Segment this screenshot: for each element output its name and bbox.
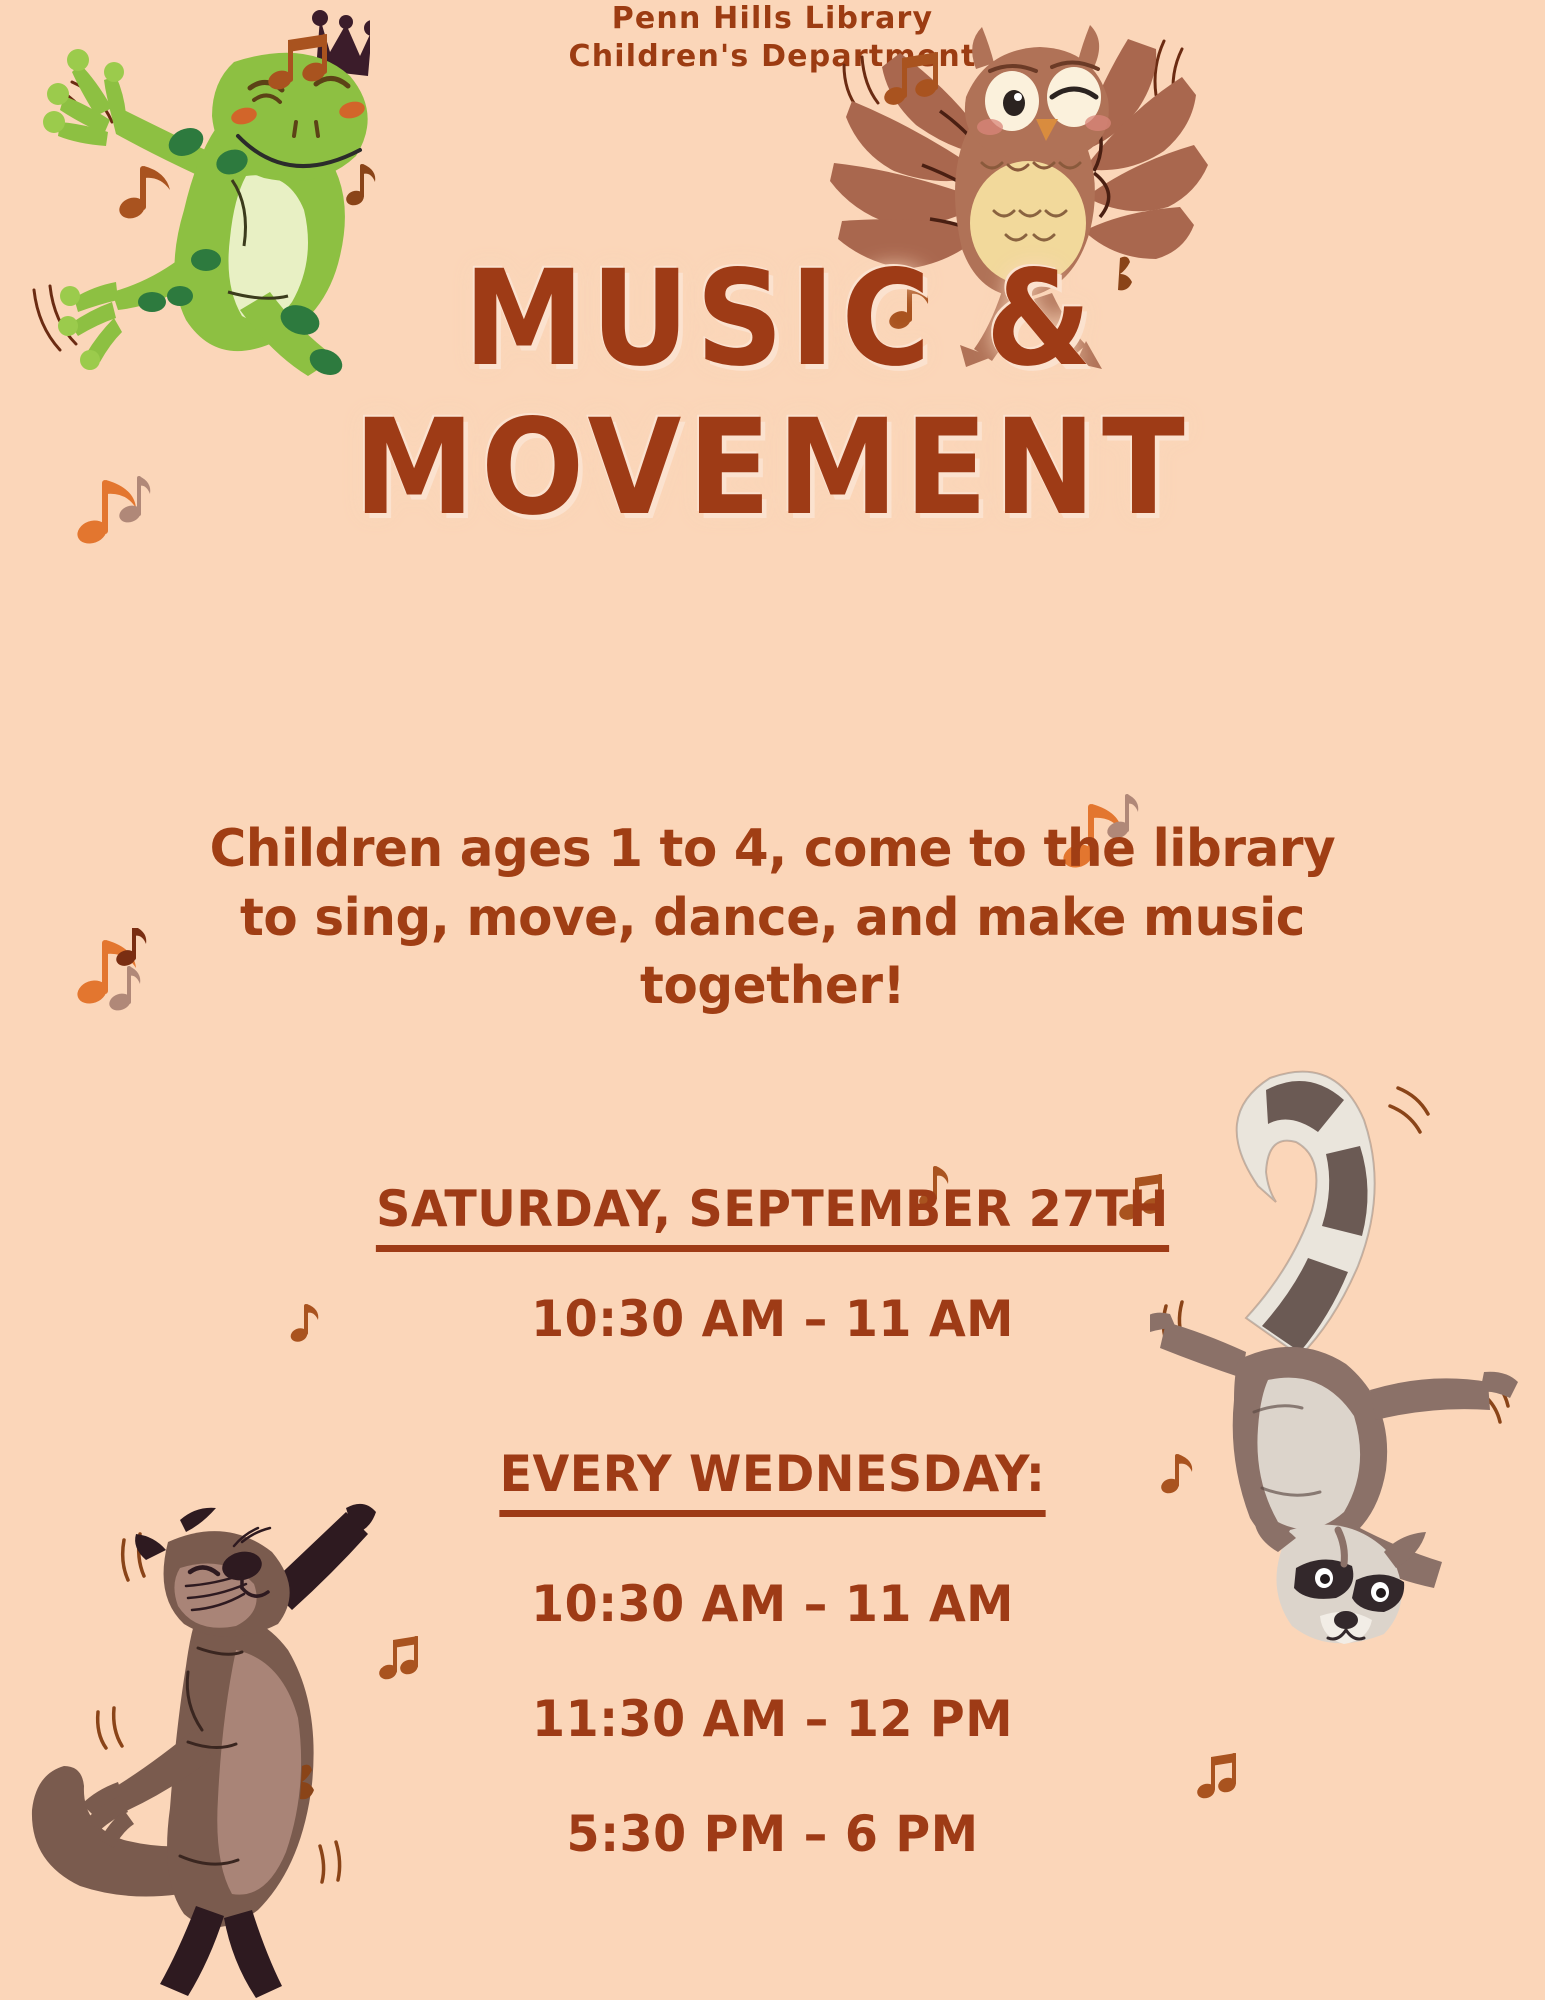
- music-note-icon: [292, 1760, 322, 1806]
- music-note-icon: [76, 470, 152, 560]
- page-title: MUSIC & MOVEMENT: [0, 255, 1545, 534]
- saturday-heading-text: SATURDAY, SEPTEMBER 27TH: [376, 1180, 1169, 1252]
- music-note-icon: [345, 160, 379, 212]
- music-note-icon: [888, 276, 932, 336]
- music-note-icon: [118, 160, 176, 228]
- organization-header: Penn Hills Library Children's Department: [0, 0, 1545, 77]
- title-line-1: MUSIC &: [62, 255, 1483, 384]
- music-note-icon: [1196, 1752, 1238, 1806]
- music-note-icon: [1110, 252, 1140, 296]
- organization-line-1: Penn Hills Library: [0, 0, 1545, 38]
- weekly-time-0: 10:30 AM – 11 AM: [39, 1575, 1507, 1633]
- event-description: Children ages 1 to 4, come to the librar…: [175, 815, 1370, 1021]
- title-line-2: MOVEMENT: [62, 404, 1483, 533]
- music-note-icon: [378, 1634, 420, 1686]
- weekly-heading: EVERY WEDNESDAY:: [39, 1445, 1507, 1503]
- saturday-time-0: 10:30 AM – 11 AM: [39, 1290, 1507, 1348]
- dancing-raccoon-illustration: [1150, 1060, 1545, 1660]
- organization-line-2: Children's Department: [0, 38, 1545, 76]
- poster-root: Penn Hills Library Children's Department…: [0, 0, 1545, 2000]
- music-note-icon: [76, 928, 156, 1024]
- saturday-heading: SATURDAY, SEPTEMBER 27TH: [39, 1180, 1507, 1238]
- weekly-time-2: 5:30 PM – 6 PM: [39, 1805, 1507, 1863]
- weekly-heading-text: EVERY WEDNESDAY:: [500, 1445, 1046, 1517]
- weekly-time-1: 11:30 AM – 12 PM: [39, 1690, 1507, 1748]
